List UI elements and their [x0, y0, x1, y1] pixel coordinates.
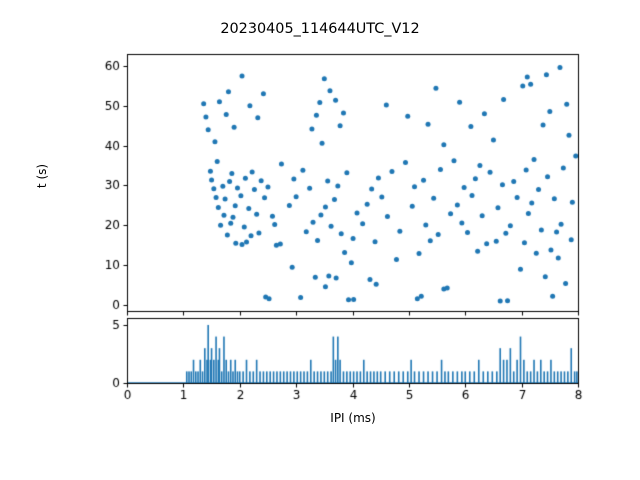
plot-canvas	[0, 0, 640, 480]
matplotlib-figure: 20230405_114644UTC_V12 IPI (ms) t (s)	[0, 0, 640, 480]
